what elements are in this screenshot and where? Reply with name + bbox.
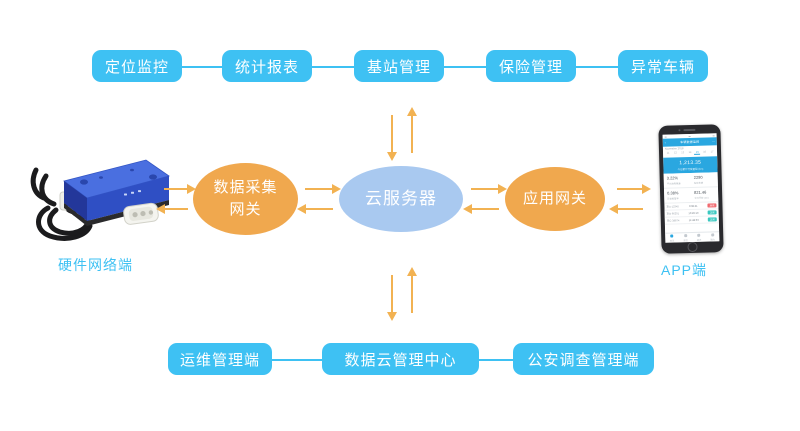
arrow-appgateway-to-phone: [617, 188, 643, 190]
top-connector-4: [576, 66, 618, 68]
arrow-gateway-to-cloud: [305, 188, 333, 190]
home-icon: [670, 234, 673, 237]
phone-stat-value: 0.38%: [667, 190, 690, 196]
arrow-cloud-to-bottom-down: [391, 275, 393, 313]
phone-title-bar: ‹ 车辆数据监控 ⋯: [663, 137, 717, 146]
app-caption: APP端: [661, 260, 707, 280]
phone-stat-value: 821.46: [694, 189, 717, 195]
phone-stat-label: 平均油耗偏差: [667, 181, 690, 186]
phone-day[interactable]: 17: [709, 150, 715, 154]
bottom-item-label: 数据云管理中心: [344, 349, 456, 370]
arrow-cloud-to-gateway: [305, 208, 333, 210]
phone-screen: ‹ 车辆数据监控 ⋯ November 2018 11 12 13 14 15 …: [663, 133, 720, 242]
wifi-icon: [689, 135, 691, 136]
phone-list-item-badge: 异常: [708, 203, 717, 207]
top-item-label: 保险管理: [499, 56, 563, 77]
top-item-baoxianguanli[interactable]: 保险管理: [486, 50, 576, 82]
node-application-gateway[interactable]: 应用网关: [505, 167, 605, 231]
signal-icon: [665, 136, 667, 137]
top-connector-3: [444, 66, 486, 68]
phone-list-item-mid: 9:08:41: [689, 204, 698, 207]
top-item-dingweijiankong[interactable]: 定位监控: [92, 50, 182, 82]
arrow-cloud-to-top-down: [391, 115, 393, 153]
phone-speaker: [683, 129, 695, 131]
top-connector-1: [180, 66, 222, 68]
phone-stat-label: 异常报警率: [667, 196, 690, 201]
phone-tab-monitor[interactable]: 监控: [683, 234, 688, 242]
bottom-connector-1: [270, 359, 324, 361]
phone-stat-cell: 0.38% 异常报警率: [664, 188, 691, 204]
arrow-appgateway-to-cloud: [471, 208, 499, 210]
phone-day[interactable]: 16: [702, 151, 708, 155]
phone-tab-label: 首页: [670, 238, 674, 242]
phone-list-item-mid: 10:26:10: [688, 211, 698, 214]
phone-list-item-left: 京A·12345: [666, 204, 679, 208]
diagram-canvas: 定位监控 统计报表 基站管理 保险管理 异常车辆: [0, 0, 800, 431]
phone-stat-label: 今日行驶 (km): [694, 195, 717, 200]
top-item-label: 异常车辆: [631, 56, 695, 77]
phone-list-item-badge: 正常: [708, 210, 717, 214]
phone-day-list: 11 12 13 14 15 16 17: [665, 150, 715, 155]
node-label-line2: 网关: [229, 201, 261, 218]
node-label: 数据采集 网关: [213, 177, 277, 221]
node-label: 云服务器: [365, 187, 437, 212]
node-cloud-server[interactable]: 云服务器: [339, 166, 463, 232]
phone-stat-cell: 2290 在线车辆: [691, 172, 718, 188]
phone-day[interactable]: 14: [687, 151, 693, 155]
more-icon[interactable]: ⋯: [712, 139, 715, 143]
top-item-tongjibaobiao[interactable]: 统计报表: [222, 50, 312, 82]
phone-day-selected[interactable]: 15: [694, 151, 700, 155]
top-item-label: 统计报表: [235, 56, 299, 77]
phone-hero-metric: 1,213.35 今日累计行驶里程 (km): [663, 156, 717, 173]
phone-day[interactable]: 13: [680, 151, 686, 155]
bottom-item-gonganzhiaochaguanliduan[interactable]: 公安调查管理端: [513, 343, 654, 375]
arrow-bottom-to-cloud-up: [411, 275, 413, 313]
phone-tab-profile[interactable]: 我的: [710, 233, 715, 241]
arrow-phone-to-appgateway: [617, 208, 643, 210]
phone-record-list: 京A·12345 9:08:41 异常 京B·66201 10:26:10 正常…: [664, 202, 719, 232]
bottom-item-shujuyunguanlizhongxin[interactable]: 数据云管理中心: [322, 343, 479, 375]
top-item-label: 定位监控: [105, 56, 169, 77]
phone-camera: [678, 129, 680, 131]
phone-stat-grid: 3.22% 平均油耗偏差 2290 在线车辆 0.38% 异常报警率 821.4…: [664, 172, 719, 203]
phone-stat-value: 2290: [694, 174, 717, 180]
bottom-connector-2: [477, 359, 515, 361]
node-label: 应用网关: [523, 188, 587, 210]
phone-day[interactable]: 12: [672, 151, 678, 155]
phone-title: 车辆数据监控: [680, 140, 699, 145]
phone-day[interactable]: 11: [665, 152, 671, 156]
bottom-item-yunweiguanliduan[interactable]: 运维管理端: [168, 343, 272, 375]
phone-hero-subtitle: 今日累计行驶里程 (km): [678, 166, 704, 171]
phone-list-item-left: 京B·66201: [667, 211, 680, 215]
report-icon: [697, 233, 700, 236]
back-icon[interactable]: ‹: [665, 141, 666, 145]
phone-tab-label: 监控: [683, 238, 687, 242]
phone-stat-cell: 3.22% 平均油耗偏差: [664, 173, 691, 189]
hardware-caption: 硬件网络端: [58, 255, 133, 275]
phone-tab-label: 报表: [697, 237, 701, 241]
phone-hero-value: 1,213.35: [679, 159, 701, 166]
bottom-item-label: 运维管理端: [180, 349, 260, 370]
phone-list-item-badge: 正常: [708, 217, 717, 221]
arrow-top-to-cloud-up: [411, 115, 413, 153]
battery-icon: [713, 135, 715, 136]
arrow-gateway-to-device: [164, 208, 188, 210]
top-item-yichangcheliang[interactable]: 异常车辆: [618, 50, 708, 82]
phone-list-item-mid: 11:48:33: [689, 218, 699, 221]
arrow-cloud-to-appgateway: [471, 188, 499, 190]
phone-list-item[interactable]: 京C·38874 11:48:33 正常: [665, 216, 719, 224]
top-item-label: 基站管理: [367, 56, 431, 77]
phone-stat-cell: 821.46 今日行驶 (km): [691, 187, 718, 203]
bottom-item-label: 公安调查管理端: [527, 349, 639, 370]
monitor-icon: [684, 234, 687, 237]
phone-tab-label: 我的: [710, 237, 714, 241]
phone-list-item-left: 京C·38874: [667, 218, 680, 222]
phone-stat-label: 在线车辆: [694, 180, 717, 185]
app-phone-mockup: ‹ 车辆数据监控 ⋯ November 2018 11 12 13 14 15 …: [658, 124, 723, 254]
arrow-device-to-gateway: [164, 188, 188, 190]
phone-tab-home[interactable]: 首页: [670, 234, 675, 242]
top-item-jizhanguanli[interactable]: 基站管理: [354, 50, 444, 82]
node-label-line1: 数据采集: [213, 179, 277, 196]
phone-home-button[interactable]: [687, 241, 697, 251]
top-connector-2: [312, 66, 354, 68]
phone-stat-value: 3.22%: [667, 175, 690, 181]
node-data-collection-gateway[interactable]: 数据采集 网关: [193, 163, 298, 235]
phone-tab-report[interactable]: 报表: [697, 233, 702, 241]
profile-icon: [711, 233, 714, 236]
hardware-device-image: [28, 148, 178, 258]
